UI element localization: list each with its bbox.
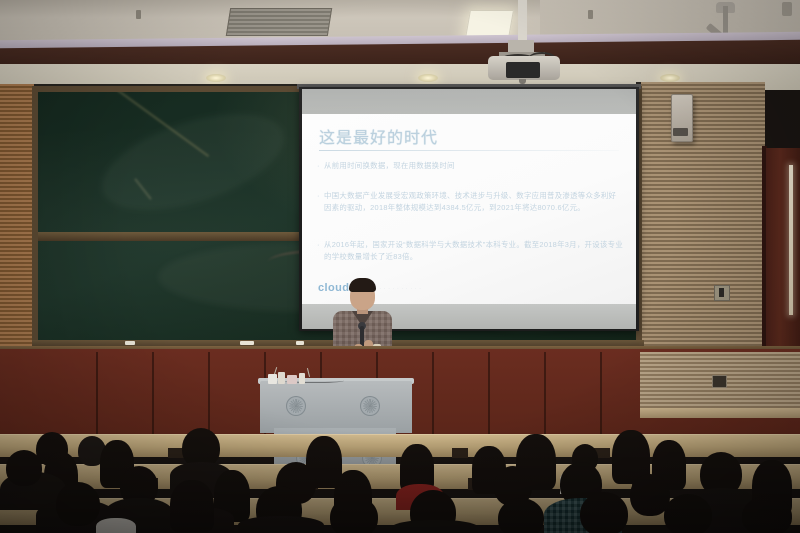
audience-head xyxy=(498,498,544,533)
panel-seam xyxy=(96,352,98,440)
air-vent xyxy=(226,8,332,36)
ceiling-fixture xyxy=(782,2,792,16)
presenter-hair xyxy=(349,278,376,292)
screen-letterbox-top xyxy=(302,89,636,114)
panel-seam xyxy=(432,352,434,440)
slide-bullet: · 中国大数据产业发展受宏观政策环境、技术进步与升级、数字应用普及渗透等众多利好… xyxy=(317,190,623,213)
chalk-piece xyxy=(125,341,135,345)
bullet-marker: · xyxy=(317,160,320,172)
sprinkler-head xyxy=(588,10,593,19)
door[interactable] xyxy=(766,148,800,378)
audience-head xyxy=(330,496,378,533)
audience-head xyxy=(580,492,628,533)
chalk-piece xyxy=(240,341,254,345)
podium-cup xyxy=(278,372,285,384)
panel-seam xyxy=(208,352,210,440)
chalk-piece xyxy=(296,341,304,345)
wall-speaker-grill xyxy=(673,128,688,136)
panel-seam xyxy=(600,352,602,440)
audience-head xyxy=(742,496,792,533)
panel-seam xyxy=(488,352,490,440)
bullet-text: 中国大数据产业发展受宏观政策环境、技术进步与升级、数字应用普及渗透等众多利好因素… xyxy=(317,190,623,213)
right-slat-wall xyxy=(640,82,765,367)
recessed-downlight xyxy=(660,74,680,82)
audience-head xyxy=(56,482,100,526)
podium-medallion xyxy=(360,396,380,416)
podium-cup xyxy=(268,374,277,384)
slide-title: 这是最好的时代 xyxy=(319,124,438,148)
bullet-marker: · xyxy=(317,190,320,202)
podium xyxy=(260,381,412,433)
wall-outlet[interactable] xyxy=(712,375,727,388)
audience-shoulders xyxy=(96,518,136,533)
bullet-marker: · xyxy=(317,239,320,251)
podium-cup xyxy=(287,375,297,384)
slide-bullet: · 从前用时间换数据，现在用数据换时间 xyxy=(317,160,623,172)
podium-cup xyxy=(299,373,305,384)
audience-shoulders xyxy=(392,520,478,533)
sprinkler-head xyxy=(136,10,141,19)
panel-seam xyxy=(152,352,154,440)
bullet-text: 从前用时间换数据，现在用数据换时间 xyxy=(317,160,623,172)
wall-switch[interactable] xyxy=(714,285,730,301)
projector-panel xyxy=(506,62,540,78)
audience-head xyxy=(6,450,42,486)
podium-medallion xyxy=(286,396,306,416)
audience-shoulders xyxy=(238,516,324,533)
audience-head xyxy=(664,494,712,533)
lecture-hall-photo: 这是最好的时代 · 从前用时间换数据，现在用数据换时间 · 中国大数据产业发展受… xyxy=(0,0,800,533)
projector-pole xyxy=(518,0,527,44)
panel-seam xyxy=(544,352,546,440)
door-glass-panel xyxy=(789,165,793,315)
right-counter-ledge xyxy=(640,408,800,418)
left-slat-wall xyxy=(0,84,34,354)
presentation-slide: 这是最好的时代 · 从前用时间换数据，现在用数据换时间 · 中国大数据产业发展受… xyxy=(302,114,636,304)
desk-gap xyxy=(452,448,468,458)
podium-items xyxy=(268,372,312,384)
recessed-downlight xyxy=(418,74,438,82)
slide-bullet: · 从2016年起，国家开设“数据科学与大数据技术”本科专业。截至2018年3月… xyxy=(317,239,623,262)
recessed-downlight xyxy=(206,74,226,82)
slide-title-rule xyxy=(319,150,619,151)
bullet-text: 从2016年起，国家开设“数据科学与大数据技术”本科专业。截至2018年3月，开… xyxy=(317,239,623,262)
chalk-smudge xyxy=(90,95,295,230)
audience-head xyxy=(170,480,214,532)
